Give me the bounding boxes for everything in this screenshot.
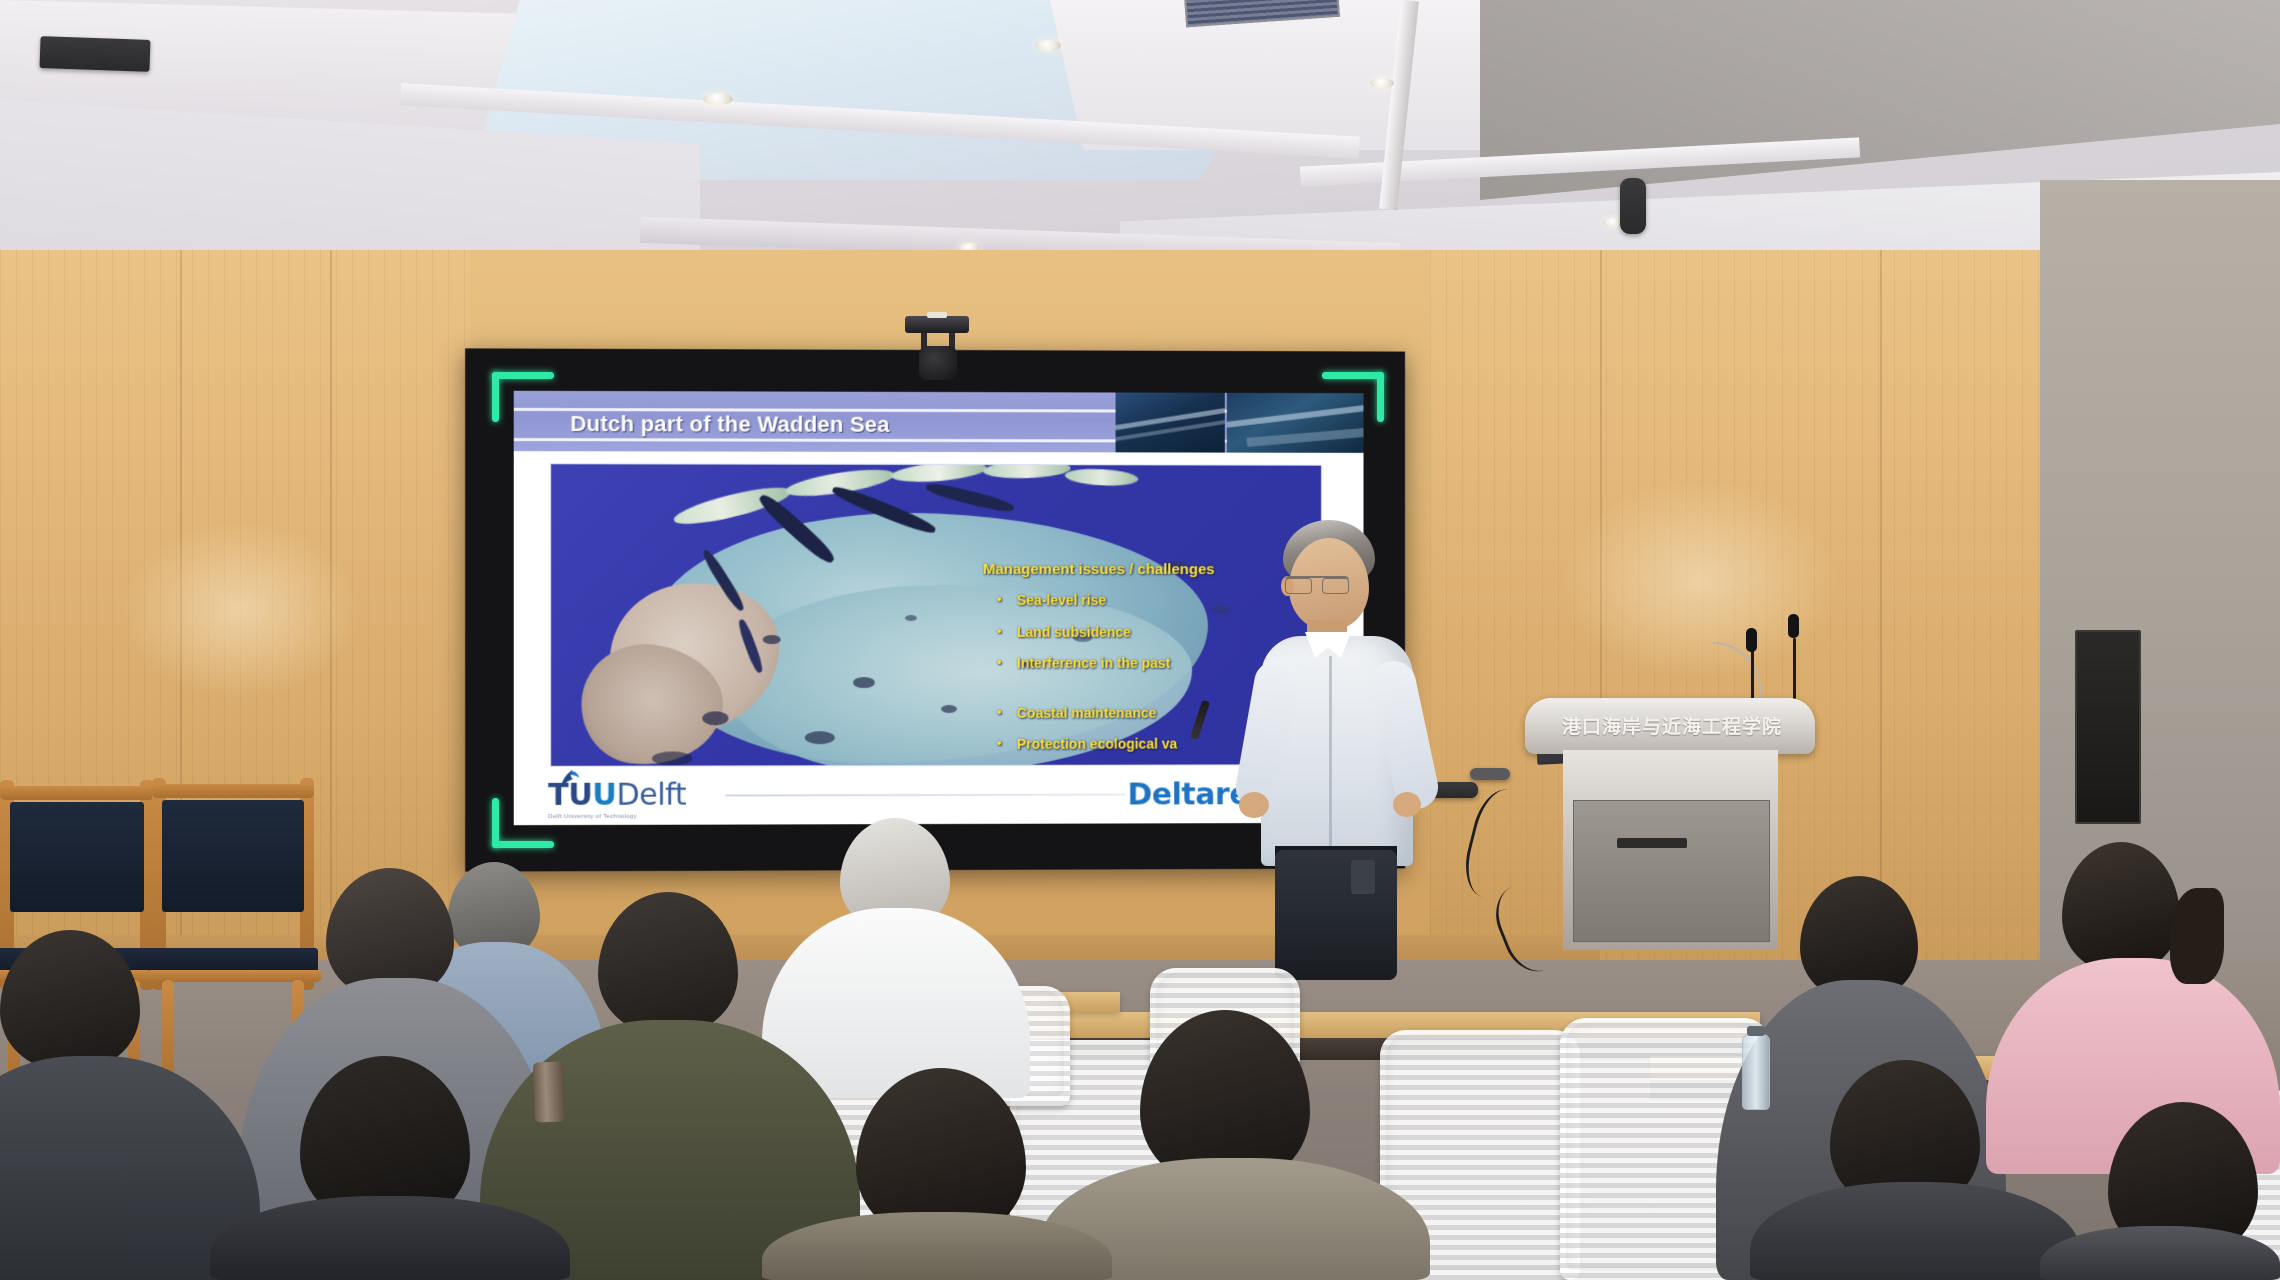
presenter-trousers [1275, 850, 1397, 980]
lecture-hall-photo: Dutch part of the Wadden Sea [0, 0, 2280, 1280]
glasses-icon [1285, 576, 1349, 593]
presenter-hand-right [1393, 792, 1421, 817]
presenter-shirt-placket [1329, 656, 1332, 846]
wall-light-reflection [1560, 480, 1840, 680]
bottle-cap [1747, 1026, 1765, 1036]
tudelft-flame-icon [558, 769, 580, 789]
ceiling-downlight [703, 93, 733, 105]
ceiling-sensor [1620, 178, 1646, 234]
lectern-front-panel [1573, 800, 1770, 942]
ceiling-downlight [1035, 40, 1061, 51]
floor-device [1470, 768, 1510, 780]
microphone-head [1746, 628, 1757, 652]
footer-divider [725, 794, 1125, 797]
tudelft-logo: TUUDelft Delft University of Technology [548, 781, 686, 821]
lectern-badge [1617, 838, 1687, 848]
screen-corner-marker-top-right [1322, 372, 1384, 422]
tudelft-tagline: Delft University of Technology [548, 814, 686, 820]
thermos-cup[interactable] [533, 1061, 565, 1122]
water-bottle[interactable] [1742, 1034, 1770, 1110]
slide-header-photo [1116, 393, 1225, 453]
microphone-head [1788, 614, 1799, 638]
microphone-stem [1793, 638, 1796, 706]
ceiling-speaker [39, 36, 150, 72]
screen-corner-marker-bottom-left [492, 798, 554, 848]
wall-seam [1880, 250, 1882, 950]
presenter [1255, 520, 1425, 970]
wall-light-reflection [120, 520, 360, 700]
wall-dark-panel [2075, 630, 2141, 824]
presentation-slide: Dutch part of the Wadden Sea [514, 391, 1364, 825]
lectern-label: 港口海岸与近海工程学院 [1543, 712, 1801, 739]
slide-title: Dutch part of the Wadden Sea [570, 411, 889, 438]
slide-satellite-map: Management issues / challenges Sea-level… [550, 463, 1322, 767]
presenter-pocket-device [1351, 860, 1375, 894]
presenter-hand-left [1239, 792, 1269, 818]
screen-corner-marker-top-left [492, 372, 554, 422]
ceiling-downlight [1370, 78, 1394, 88]
ceiling-camera [905, 310, 969, 380]
